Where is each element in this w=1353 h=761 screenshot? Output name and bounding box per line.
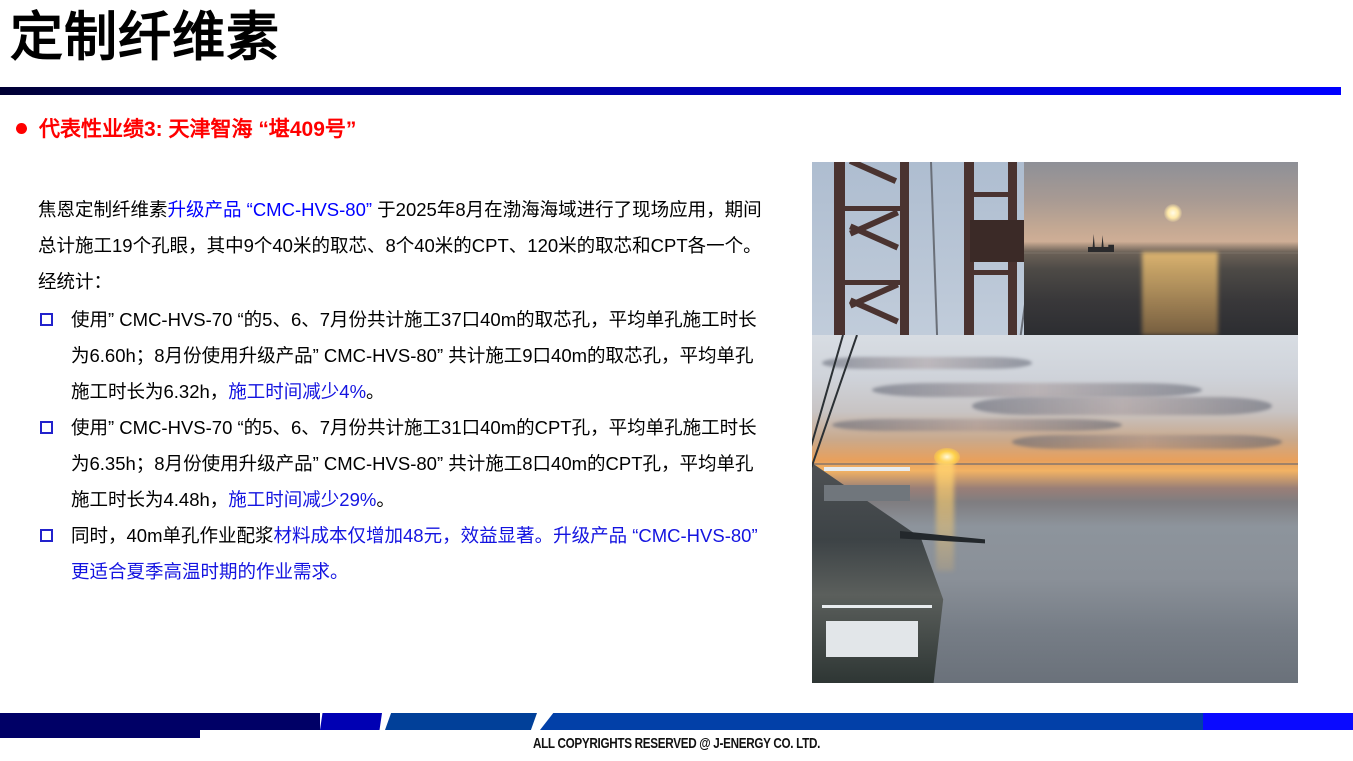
square-bullet-icon [40, 529, 53, 542]
body-text-column: 焦恩定制纤维素升级产品 “CMC-HVS-80” 于2025年8月在渤海海域进行… [38, 192, 768, 590]
sea-horizon-line [812, 463, 1298, 465]
mast-wire [812, 335, 844, 460]
deck-railing [824, 467, 910, 471]
photo-sunset-from-vessel [812, 335, 1298, 683]
deck-railing [822, 605, 932, 608]
bullet-1-text-black: 使用” CMC-HVS-70 “的5、6、7月份共计施工37口40m的取芯孔，平… [71, 309, 757, 402]
footer-segment-6 [1203, 713, 1353, 730]
bullet-1-text-tail: 。 [366, 381, 385, 402]
derrick-rung-right [972, 270, 1014, 275]
intro-paragraph: 焦恩定制纤维素升级产品 “CMC-HVS-80” 于2025年8月在渤海海域进行… [38, 192, 768, 300]
square-bullet-icon [40, 421, 53, 434]
intro-part-1: 焦恩定制纤维素 [38, 199, 168, 220]
sun-icon [1164, 204, 1182, 222]
derrick-rung [842, 280, 904, 285]
square-bullet-icon [40, 313, 53, 326]
sun-reflection [1142, 252, 1218, 335]
footer-segment-4 [385, 713, 537, 730]
photo-sea-sunset-distant-rig [1024, 162, 1298, 335]
footer-segment-2 [168, 713, 320, 730]
photo-collage [812, 162, 1298, 683]
bullet-1-text-blue: 施工时间减少4% [228, 381, 366, 402]
section-heading: 代表性业绩3: 天津智海 “堪409号” [16, 113, 356, 143]
derrick-rung [842, 206, 904, 211]
bullet-dot-icon [16, 123, 27, 134]
cloud-band [872, 383, 1202, 397]
distant-rig-silhouette [1088, 234, 1114, 252]
list-item: 使用” CMC-HVS-70 “的5、6、7月份共计施工31口40m的CPT孔，… [38, 410, 768, 518]
bullet-list: 使用” CMC-HVS-70 “的5、6、7月份共计施工37口40m的取芯孔，平… [38, 302, 768, 590]
cloud-band [832, 419, 1122, 431]
bullet-2-text-blue: 施工时间减少29% [228, 489, 376, 510]
title-divider [0, 87, 1341, 95]
footer-copyright: ALL COPYRIGHTS RESERVED @ J-ENERGY CO. L… [149, 735, 1204, 752]
deck-containers [826, 621, 918, 657]
list-item: 使用” CMC-HVS-70 “的5、6、7月份共计施工37口40m的取芯孔，平… [38, 302, 768, 410]
bullet-2-text-tail: 。 [376, 489, 395, 510]
derrick-rung-right [972, 192, 1014, 197]
intro-product-highlight: 升级产品 “CMC-HVS-80” [168, 199, 373, 220]
mast-wire [812, 335, 858, 468]
sun-reflection [936, 461, 954, 571]
section-heading-label: 代表性业绩3: 天津智海 “堪409号” [39, 113, 356, 143]
bullet-2-text-black: 使用” CMC-HVS-70 “的5、6、7月份共计施工31口40m的CPT孔，… [71, 417, 757, 510]
cloud-band [972, 397, 1272, 415]
bullet-3-text-black: 同时，40m单孔作业配浆 [71, 525, 274, 546]
deck-gantry [824, 485, 910, 501]
derrick-platform [970, 220, 1026, 262]
footer-segment-5 [540, 713, 1204, 730]
list-item: 同时，40m单孔作业配浆材料成本仅增加48元，效益显著。升级产品 “CMC-HV… [38, 518, 768, 590]
footer-segment-3 [320, 713, 382, 730]
page-title: 定制纤维素 [10, 9, 280, 67]
cloud-band [1012, 435, 1282, 449]
cloud-band [822, 357, 1032, 369]
